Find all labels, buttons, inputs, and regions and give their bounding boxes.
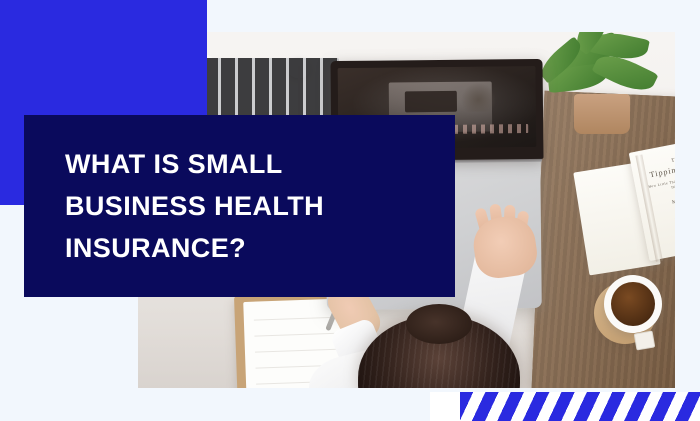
tea-bag-tag — [634, 330, 656, 350]
headline-panel: WHAT IS SMALL BUSINESS HEALTH INSURANCE? — [24, 115, 455, 297]
hair-bun — [406, 304, 472, 344]
blue-accent-notch — [0, 0, 207, 33]
screen-image-plant — [460, 83, 496, 112]
tea-cup — [604, 275, 662, 333]
stripe-pattern — [460, 392, 700, 421]
book-author-first: Malcolm — [651, 192, 675, 211]
page-title: WHAT IS SMALL BUSINESS HEALTH INSURANCE? — [65, 143, 425, 269]
tea-liquid — [611, 282, 655, 326]
diagonal-stripe-decoration — [430, 392, 700, 421]
screen-image-object — [405, 91, 457, 113]
banner-canvas: The Tipping Point How Little Things Can … — [0, 0, 700, 421]
plant-pot — [574, 94, 630, 134]
